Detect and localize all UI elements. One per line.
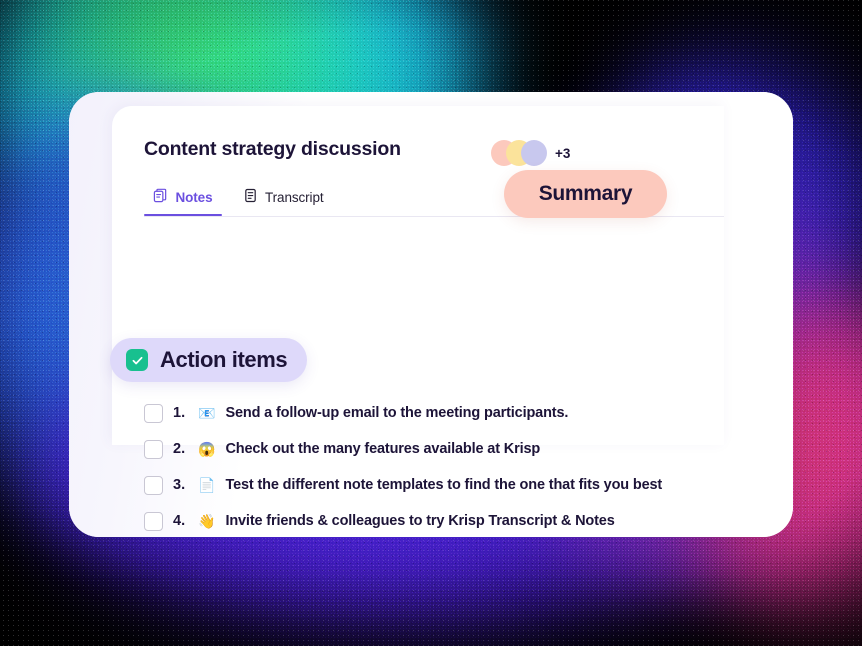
summary-badge-label: Summary (539, 182, 633, 206)
checkmark-icon (126, 349, 148, 371)
avatar-group[interactable]: +3 (491, 140, 570, 166)
item-number: 3. (173, 477, 188, 493)
summary-badge[interactable]: Summary (504, 170, 667, 218)
item-number: 1. (173, 405, 188, 421)
page-title: Content strategy discussion (144, 138, 401, 161)
panel-header: Content strategy discussion +3 (144, 126, 724, 172)
screenshot-stage: Content strategy discussion +3 Notes (0, 0, 862, 646)
item-checkbox[interactable] (144, 404, 163, 423)
item-checkbox[interactable] (144, 476, 163, 495)
tab-transcript-label: Transcript (265, 190, 324, 205)
list-item[interactable]: 2. 😱 Check out the many features availab… (144, 431, 744, 467)
item-checkbox[interactable] (144, 440, 163, 459)
avatar (521, 140, 547, 166)
item-checkbox[interactable] (144, 512, 163, 531)
notes-icon (153, 188, 168, 208)
item-text: Check out the many features available at… (225, 441, 540, 457)
action-items-badge[interactable]: Action items (110, 338, 307, 382)
waving-hand-emoji: 👋 (198, 514, 215, 528)
transcript-icon (243, 188, 258, 208)
tab-transcript[interactable]: Transcript (241, 180, 326, 215)
page-emoji: 📄 (198, 478, 215, 492)
item-text: Send a follow-up email to the meeting pa… (225, 405, 568, 421)
list-item[interactable]: 3. 📄 Test the different note templates t… (144, 467, 744, 503)
list-item[interactable]: 4. 👋 Invite friends & colleagues to try … (144, 503, 744, 539)
item-text: Test the different note templates to fin… (225, 477, 662, 493)
action-items-list: 1. 📧 Send a follow-up email to the meeti… (144, 395, 744, 539)
tab-notes-label: Notes (175, 190, 212, 205)
email-emoji: 📧 (198, 406, 215, 420)
list-item[interactable]: 1. 📧 Send a follow-up email to the meeti… (144, 395, 744, 431)
tab-notes[interactable]: Notes (144, 180, 222, 215)
screaming-face-emoji: 😱 (198, 442, 215, 456)
item-number: 2. (173, 441, 188, 457)
action-items-label: Action items (160, 347, 287, 373)
item-text: Invite friends & colleagues to try Krisp… (225, 513, 614, 529)
item-number: 4. (173, 513, 188, 529)
avatar-overflow-count: +3 (555, 146, 570, 161)
